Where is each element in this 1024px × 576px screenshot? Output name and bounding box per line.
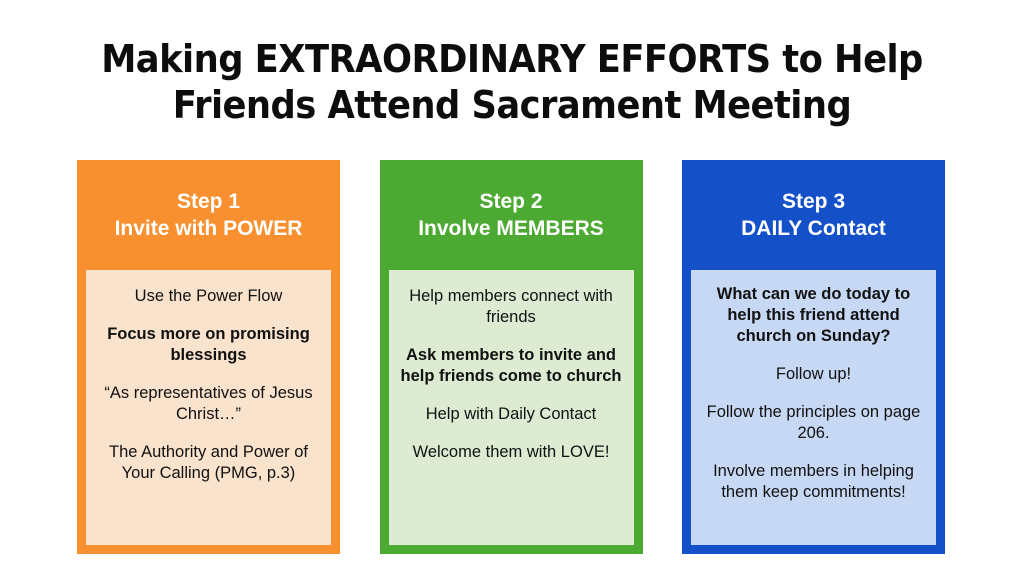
step-card-3-line-4: Involve members in helping them keep com… bbox=[701, 461, 926, 503]
step-card-1-header: Step 1 Invite with POWER bbox=[77, 160, 340, 270]
step-card-3-line-3: Follow the principles on page 206. bbox=[701, 402, 926, 444]
step-card-1-step-label: Step 1 bbox=[177, 188, 240, 215]
step-card-2-body-frame: Help members connect with friends Ask me… bbox=[380, 270, 643, 554]
step-card-2-body: Help members connect with friends Ask me… bbox=[389, 270, 634, 545]
step-card-2-line-2: Ask members to invite and help friends c… bbox=[399, 345, 624, 387]
step-card-1: Step 1 Invite with POWER Use the Power F… bbox=[77, 160, 340, 554]
slide-canvas: Making EXTRAORDINARY EFFORTS to Help Fri… bbox=[0, 0, 1024, 576]
step-card-2-line-4: Welcome them with LOVE! bbox=[399, 442, 624, 463]
page-title-line-1: Making EXTRAORDINARY EFFORTS to Help bbox=[82, 36, 941, 82]
step-card-2-line-3: Help with Daily Contact bbox=[399, 404, 624, 425]
step-card-2-line-1: Help members connect with friends bbox=[399, 286, 624, 328]
step-card-3: Step 3 DAILY Contact What can we do toda… bbox=[682, 160, 945, 554]
page-title: Making EXTRAORDINARY EFFORTS to Help Fri… bbox=[82, 36, 941, 128]
step-card-3-body-frame: What can we do today to help this friend… bbox=[682, 270, 945, 554]
step-card-1-line-3: “As representatives of Jesus Christ…” bbox=[96, 383, 321, 425]
step-card-3-body: What can we do today to help this friend… bbox=[691, 270, 936, 545]
steps-container: Step 1 Invite with POWER Use the Power F… bbox=[77, 160, 945, 554]
step-card-3-subtitle: DAILY Contact bbox=[741, 215, 886, 242]
step-card-2: Step 2 Involve MEMBERS Help members conn… bbox=[380, 160, 643, 554]
step-card-1-line-4: The Authority and Power of Your Calling … bbox=[96, 442, 321, 484]
step-card-1-line-2: Focus more on promising blessings bbox=[96, 324, 321, 366]
page-title-line-2: Friends Attend Sacrament Meeting bbox=[82, 82, 941, 128]
step-card-1-body: Use the Power Flow Focus more on promisi… bbox=[86, 270, 331, 545]
step-card-1-body-frame: Use the Power Flow Focus more on promisi… bbox=[77, 270, 340, 554]
step-card-2-header: Step 2 Involve MEMBERS bbox=[380, 160, 643, 270]
step-card-3-line-2: Follow up! bbox=[701, 364, 926, 385]
step-card-1-line-1: Use the Power Flow bbox=[96, 286, 321, 307]
step-card-2-subtitle: Involve MEMBERS bbox=[418, 215, 604, 242]
step-card-3-header: Step 3 DAILY Contact bbox=[682, 160, 945, 270]
step-card-3-line-1: What can we do today to help this friend… bbox=[701, 284, 926, 347]
step-card-1-subtitle: Invite with POWER bbox=[115, 215, 303, 242]
step-card-3-step-label: Step 3 bbox=[782, 188, 845, 215]
step-card-2-step-label: Step 2 bbox=[479, 188, 542, 215]
